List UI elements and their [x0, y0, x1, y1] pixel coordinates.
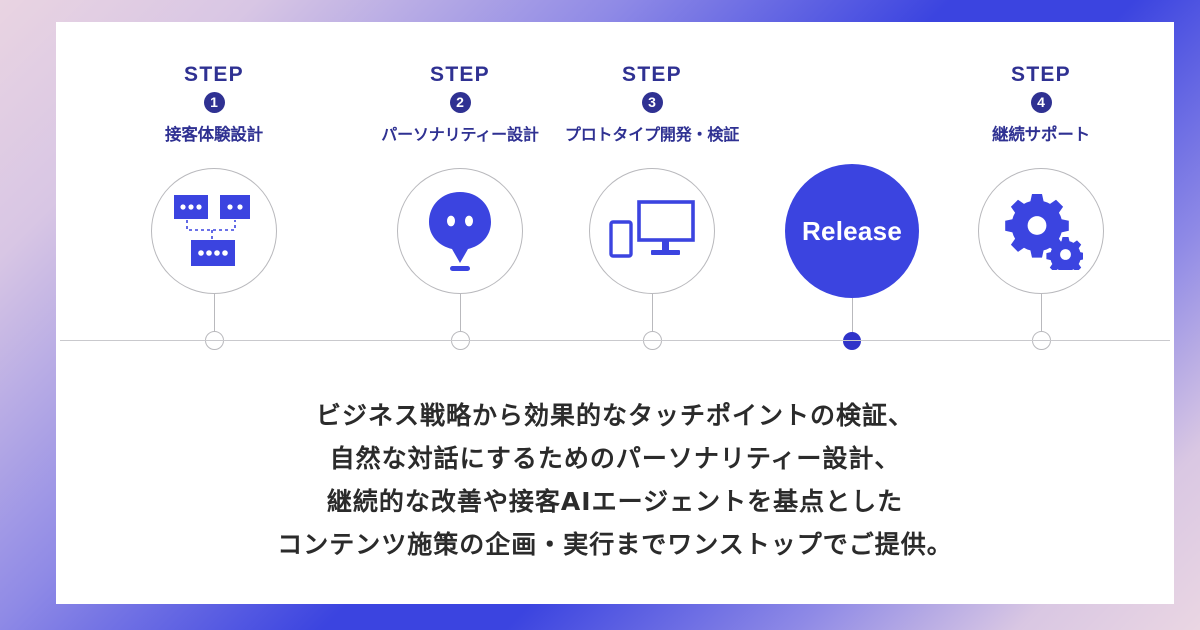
devices-icon — [590, 169, 714, 293]
body-copy-line-3: 継続的な改善や接客AIエージェントを基点とした — [56, 480, 1174, 523]
step-number-1: 1 — [204, 92, 225, 113]
step-node-2 — [397, 168, 523, 294]
step-column-1: STEP 1 接客体験設計 — [124, 22, 304, 145]
timeline-axis — [60, 340, 1170, 341]
step-node-3 — [589, 168, 715, 294]
step-title-4: 継続サポート — [951, 121, 1131, 145]
step-column-3: STEP 3 プロトタイプ開発・検証 — [562, 22, 742, 145]
step-number-3: 3 — [642, 92, 663, 113]
step-node-4 — [978, 168, 1104, 294]
poster-canvas: STEP 1 接客体験設計 — [56, 22, 1174, 604]
steps-row: STEP 1 接客体験設計 — [56, 22, 1174, 352]
timeline-marker-release[interactable] — [843, 332, 861, 350]
body-copy: ビジネス戦略から効果的なタッチポイントの検証、 自然な対話にするためのパーソナリ… — [56, 394, 1174, 566]
release-badge: Release — [785, 164, 919, 298]
step-title-2: パーソナリティー設計 — [370, 121, 550, 145]
gears-icon — [979, 169, 1103, 293]
step-word-4: STEP — [951, 64, 1131, 85]
chat-face-icon — [398, 169, 522, 293]
body-copy-line-4: コンテンツ施策の企画・実行までワンストップでご提供。 — [56, 523, 1174, 566]
step-number-4: 4 — [1031, 92, 1052, 113]
body-copy-line-1: ビジネス戦略から効果的なタッチポイントの検証、 — [56, 394, 1174, 437]
step-word-3: STEP — [562, 64, 742, 85]
step-column-2: STEP 2 パーソナリティー設計 — [370, 22, 550, 145]
step-number-2: 2 — [450, 92, 471, 113]
release-label: Release — [785, 164, 919, 298]
step-title-3: プロトタイプ開発・検証 — [562, 121, 742, 145]
flow-boxes-icon — [152, 169, 276, 293]
poster-frame: STEP 1 接客体験設計 — [0, 0, 1200, 630]
step-word-2: STEP — [370, 64, 550, 85]
body-copy-line-2: 自然な対話にするためのパーソナリティー設計、 — [56, 437, 1174, 480]
step-node-1 — [151, 168, 277, 294]
step-word-1: STEP — [124, 64, 304, 85]
step-column-4: STEP 4 継続サポート — [951, 22, 1131, 145]
step-title-1: 接客体験設計 — [124, 121, 304, 145]
